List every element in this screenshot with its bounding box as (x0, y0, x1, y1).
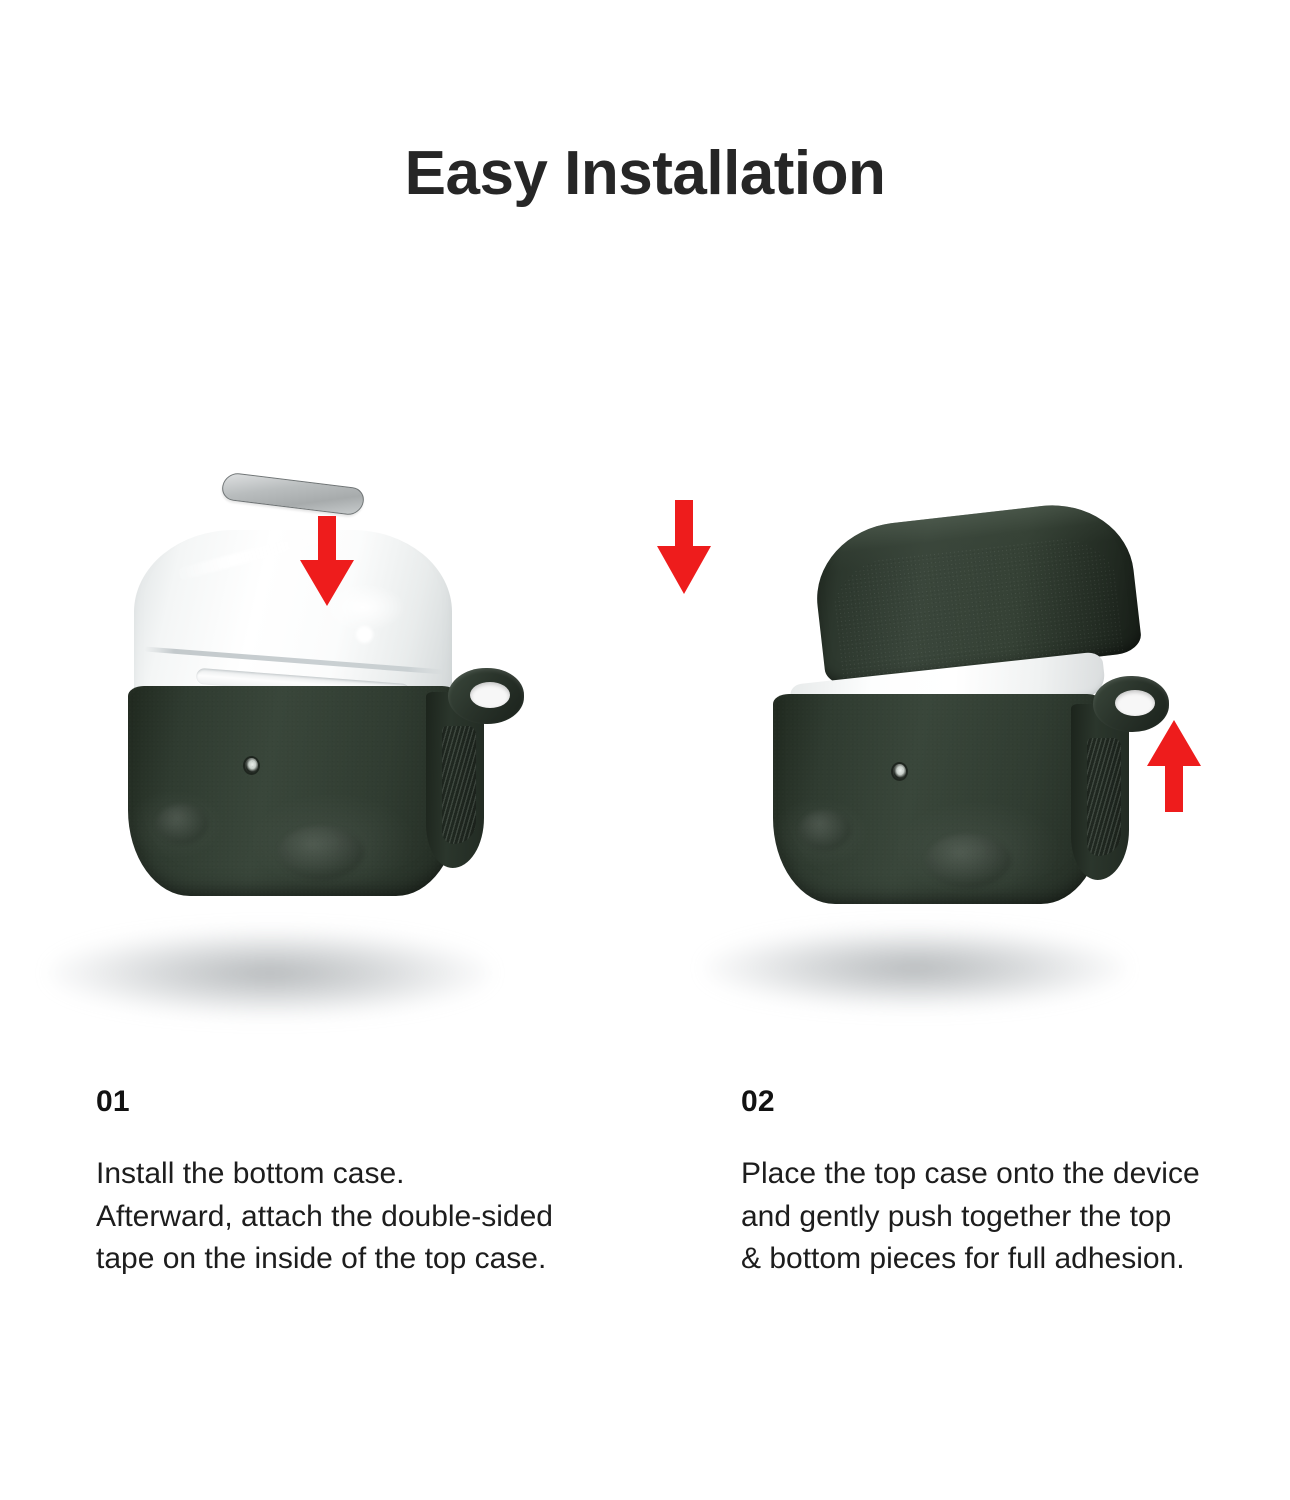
leather-dimple (799, 810, 851, 850)
step-description: Install the bottom case. Afterward, atta… (96, 1153, 626, 1281)
step-02-caption: 02 Place the top case onto the device an… (741, 1085, 1271, 1281)
step-number: 02 (741, 1085, 1271, 1119)
step-02: 02 Place the top case onto the device an… (645, 430, 1290, 1430)
leather-dimple (278, 826, 364, 880)
step-01-caption: 01 Install the bottom case. Afterward, a… (96, 1085, 626, 1281)
drop-shadow (50, 930, 490, 1016)
installation-steps: 01 Install the bottom case. Afterward, a… (0, 430, 1290, 1430)
leather-dimple (925, 834, 1011, 888)
device-illustration-step-01 (110, 470, 530, 940)
step-01-figure (0, 430, 645, 1070)
led-window (245, 758, 258, 773)
down-arrow (296, 516, 358, 608)
leather-dimple (156, 804, 208, 844)
step-02-figure (645, 430, 1290, 1070)
keyring-loop (448, 668, 524, 724)
led-window (893, 764, 906, 779)
up-arrow (1143, 718, 1205, 814)
down-arrow (653, 500, 715, 596)
step-01: 01 Install the bottom case. Afterward, a… (0, 430, 645, 1430)
step-description: Place the top case onto the device and g… (741, 1153, 1271, 1281)
page-title: Easy Installation (0, 140, 1290, 208)
green-bottom-shell (773, 694, 1103, 904)
case-specular-highlight (356, 626, 373, 643)
green-bottom-shell (128, 686, 458, 896)
double-sided-tape-strip (219, 472, 366, 517)
step-number: 01 (96, 1085, 626, 1119)
device-illustration-step-02 (755, 490, 1175, 960)
case-lid-seam (144, 646, 443, 674)
